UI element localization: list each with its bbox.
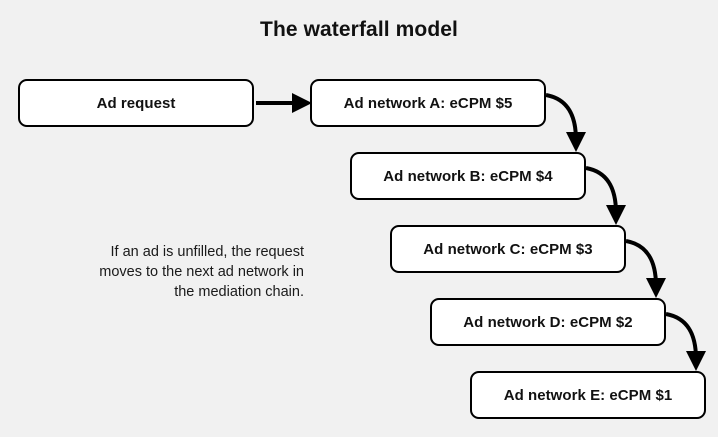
edge-a-to-b-arrowhead — [566, 132, 586, 152]
node-ad-network-b[interactable]: Ad network B: eCPM $4 — [350, 152, 586, 200]
edge-c-to-d-curve — [626, 241, 656, 286]
edge-d-to-e-arrowhead — [686, 351, 706, 371]
node-ad-network-b-label: Ad network B: eCPM $4 — [383, 168, 552, 185]
caption-line-2: moves to the next ad network in — [24, 262, 304, 282]
explanatory-caption: If an ad is unfilled, the request moves … — [24, 242, 304, 302]
node-ad-network-c-label: Ad network C: eCPM $3 — [423, 241, 592, 258]
waterfall-diagram: The waterfall model Ad request Ad networ… — [0, 0, 718, 437]
node-ad-request-label: Ad request — [97, 95, 176, 112]
node-ad-network-d-label: Ad network D: eCPM $2 — [463, 314, 632, 331]
edge-b-to-c-curve — [586, 168, 616, 213]
edge-d-to-e-curve — [666, 314, 696, 359]
caption-line-1: If an ad is unfilled, the request — [24, 242, 304, 262]
node-ad-network-e-label: Ad network E: eCPM $1 — [504, 387, 673, 404]
page-title: The waterfall model — [0, 18, 718, 42]
node-ad-network-e[interactable]: Ad network E: eCPM $1 — [470, 371, 706, 419]
edge-request-to-a-arrowhead — [292, 93, 312, 113]
node-ad-network-c[interactable]: Ad network C: eCPM $3 — [390, 225, 626, 273]
caption-line-3: the mediation chain. — [24, 282, 304, 302]
node-ad-network-a[interactable]: Ad network A: eCPM $5 — [310, 79, 546, 127]
edge-c-to-d-arrowhead — [646, 278, 666, 298]
node-ad-request[interactable]: Ad request — [18, 79, 254, 127]
node-ad-network-a-label: Ad network A: eCPM $5 — [344, 95, 513, 112]
edge-b-to-c-arrowhead — [606, 205, 626, 225]
node-ad-network-d[interactable]: Ad network D: eCPM $2 — [430, 298, 666, 346]
edge-a-to-b-curve — [546, 95, 576, 140]
